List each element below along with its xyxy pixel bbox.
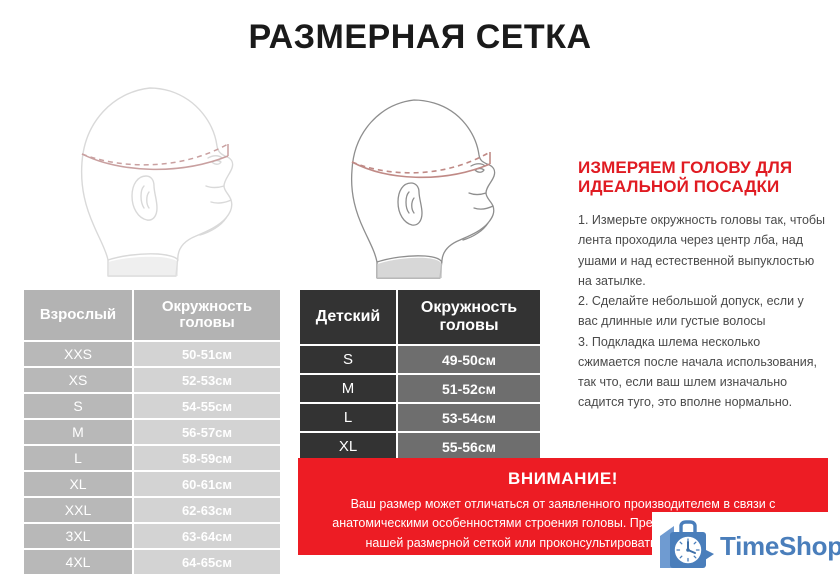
adult-header-circumference: Окружность головы [134,290,280,340]
adult-size-2: S [24,394,132,418]
child-head-illustration [330,92,535,287]
size-chart-page: РАЗМЕРНАЯ СЕТКА [0,0,840,581]
instructions-heading: ИЗМЕРЯЕМ ГОЛОВУ ДЛЯ ИДЕАЛЬНОЙ ПОСАДКИ [578,158,826,196]
adult-head-profile-svg [58,80,288,285]
adult-table-body: XXS 50-51см XS 52-53см S 54-55см M 56-57… [24,342,280,574]
adult-size-8: 4XL [24,550,132,574]
child-size-table: Детский Окружность головы S 49-50см M 51… [298,288,542,462]
adult-header-size: Взрослый [24,290,132,340]
table-row: 4XL 64-65см [24,550,280,574]
table-row: XL 60-61см [24,472,280,496]
table-row: S 54-55см [24,394,280,418]
measuring-instructions: ИЗМЕРЯЕМ ГОЛОВУ ДЛЯ ИДЕАЛЬНОЙ ПОСАДКИ 1.… [578,158,826,413]
table-row: L 53-54см [300,404,540,431]
table-header-row: Взрослый Окружность головы [24,290,280,340]
table-header-row: Детский Окружность головы [300,290,540,344]
table-row: XL 55-56см [300,433,540,460]
instruction-step-3: 3. Подкладка шлема несколько сжимается п… [578,332,826,413]
child-value-1: 51-52см [398,375,540,402]
shopping-bag-clock-icon [656,518,718,576]
page-title: РАЗМЕРНАЯ СЕТКА [0,18,840,57]
table-row: L 58-59см [24,446,280,470]
logo-text: TimeShop [720,531,840,562]
adult-size-3: M [24,420,132,444]
child-size-0: S [300,346,396,373]
child-size-1: M [300,375,396,402]
adult-size-table: Взрослый Окружность головы XXS 50-51см X… [22,288,282,576]
table-row: XXS 50-51см [24,342,280,366]
table-row: 3XL 63-64см [24,524,280,548]
child-size-2: L [300,404,396,431]
adult-size-6: XXL [24,498,132,522]
adult-value-3: 56-57см [134,420,280,444]
child-value-3: 55-56см [398,433,540,460]
table-row: XXL 62-63см [24,498,280,522]
timeshop-logo[interactable]: TimeShop [652,512,840,581]
child-size-3: XL [300,433,396,460]
adult-value-4: 58-59см [134,446,280,470]
adult-size-0: XXS [24,342,132,366]
child-header-size: Детский [300,290,396,344]
adult-size-7: 3XL [24,524,132,548]
table-row: M 51-52см [300,375,540,402]
adult-head-illustration [58,80,288,285]
child-table-body: S 49-50см M 51-52см L 53-54см XL 55-56см [300,346,540,460]
adult-value-7: 63-64см [134,524,280,548]
adult-value-0: 50-51см [134,342,280,366]
adult-size-1: XS [24,368,132,392]
table-row: XS 52-53см [24,368,280,392]
adult-value-5: 60-61см [134,472,280,496]
child-value-2: 53-54см [398,404,540,431]
table-row: M 56-57см [24,420,280,444]
adult-value-8: 64-65см [134,550,280,574]
instruction-step-2: 2. Сделайте небольшой допуск, если у вас… [578,291,826,332]
child-header-circumference: Окружность головы [398,290,540,344]
child-head-profile-svg [330,92,535,287]
adult-size-4: L [24,446,132,470]
instruction-step-1: 1. Измерьте окружность головы так, чтобы… [578,210,826,291]
table-row: S 49-50см [300,346,540,373]
adult-value-1: 52-53см [134,368,280,392]
adult-value-6: 62-63см [134,498,280,522]
instructions-body: 1. Измерьте окружность головы так, чтобы… [578,210,826,413]
adult-size-5: XL [24,472,132,496]
child-value-0: 49-50см [398,346,540,373]
warning-title: ВНИМАНИЕ! [298,469,828,489]
adult-value-2: 54-55см [134,394,280,418]
